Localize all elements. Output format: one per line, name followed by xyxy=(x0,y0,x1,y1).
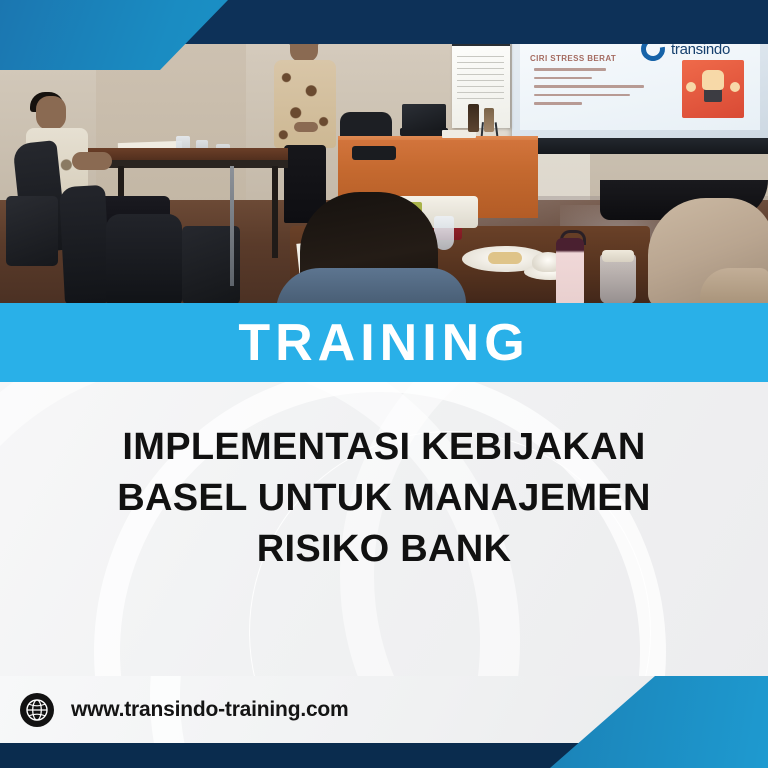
screen-frame xyxy=(505,138,768,154)
title-line-1: IMPLEMENTASI KEBIJAKAN xyxy=(34,422,734,473)
laptop-screen xyxy=(402,104,446,130)
cable-bundle xyxy=(352,146,396,160)
title-line-3: RISIKO BANK xyxy=(34,524,734,575)
bottle-light xyxy=(484,108,494,132)
chair-left-front xyxy=(59,185,111,304)
attendee-left-shoulder xyxy=(276,268,466,304)
page-title: IMPLEMENTASI KEBIJAKAN BASEL UNTUK MANAJ… xyxy=(0,422,768,575)
plate-food xyxy=(488,252,522,264)
slide-heading: CIRI STRESS BERAT xyxy=(530,54,616,63)
slide-illustration xyxy=(682,60,744,118)
training-poster: CIRI STRESS BERAT transindo xyxy=(0,0,768,768)
presenter-person xyxy=(272,30,340,220)
seated-man-arm xyxy=(72,152,112,170)
flipchart xyxy=(452,42,510,128)
left-desk-leg-back xyxy=(272,166,278,258)
chair-foreground xyxy=(106,214,182,304)
glass-tumbler-lid xyxy=(602,250,634,262)
bag-left xyxy=(6,196,58,266)
slide-bullet-lines-bottom xyxy=(534,68,684,111)
presenter-hands xyxy=(294,122,318,132)
presenter-batik-shirt xyxy=(274,60,336,148)
bottle-dark xyxy=(468,104,479,132)
globe-icon xyxy=(20,693,54,727)
training-banner-label: TRAINING xyxy=(238,317,529,369)
training-room-photo: CIRI STRESS BERAT transindo xyxy=(0,0,768,304)
training-banner: TRAINING xyxy=(0,303,768,382)
vertical-pole xyxy=(230,166,234,286)
thermos-bottle xyxy=(556,238,584,304)
seated-man-head xyxy=(36,96,66,130)
flipchart-lines xyxy=(457,56,504,104)
website-url[interactable]: www.transindo-training.com xyxy=(71,698,349,722)
title-line-2: BASEL UNTUK MANAJEMEN xyxy=(34,473,734,524)
